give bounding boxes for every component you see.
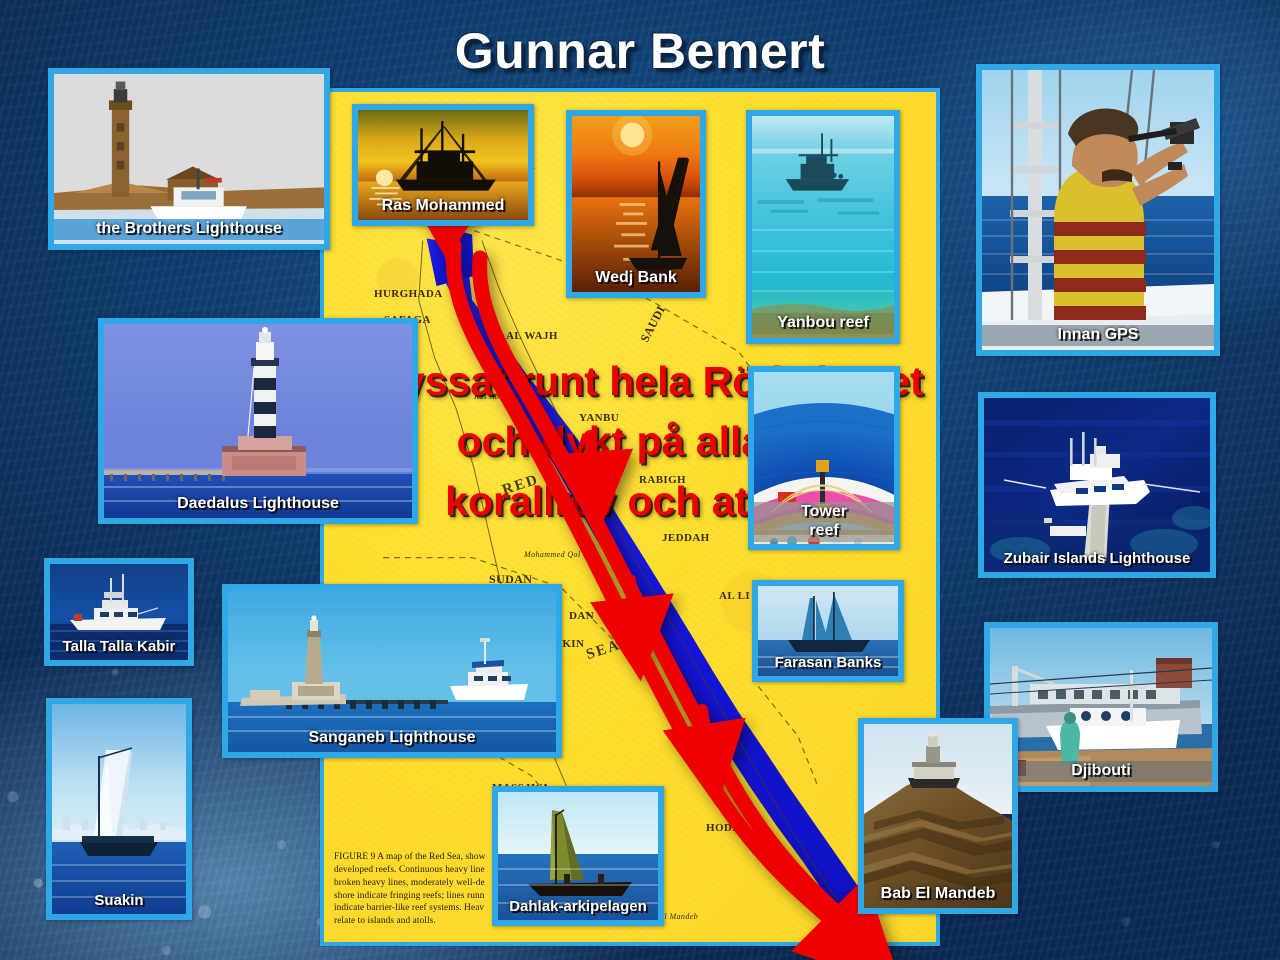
photo-card-yanbou-reef[interactable]: Yanbou reef (746, 110, 900, 344)
photo-image-suakin (52, 704, 186, 914)
photo-card-zubair-islands-lighthouse[interactable]: Zubair Islands Lighthouse (978, 392, 1216, 578)
photo-card-dahlak-arkipelagen[interactable]: Dahlak-arkipelagen (492, 786, 664, 926)
photo-image-yanbou-reef (752, 116, 894, 338)
map-label: RED (500, 472, 541, 500)
photo-image-zubair-islands-lighthouse (984, 398, 1210, 572)
map-label: Mohammed Qol (524, 550, 581, 559)
photo-image-sanganeb-lighthouse (228, 590, 556, 752)
photo-card-tower-reef[interactable]: Towerreef (748, 366, 900, 550)
map-label: SAUDI (637, 303, 669, 345)
map-label: YANBU (579, 412, 619, 424)
map-label: HODE (706, 822, 740, 834)
photo-card-suakin[interactable]: Suakin (46, 698, 192, 920)
map-label: DAN (569, 610, 594, 622)
photo-image-ras-mohammed (358, 110, 528, 220)
map-label: SEA (584, 637, 623, 664)
photo-image-bab-el-mandeb (864, 724, 1012, 908)
map-label: RABIGH (639, 474, 686, 486)
photo-card-farasan-banks[interactable]: Farasan Banks (752, 580, 904, 682)
photo-image-tower-reef (754, 372, 894, 544)
page-title: Gunnar Bemert (0, 22, 1280, 80)
photo-image-djibouti (990, 628, 1212, 786)
map-label: Ras Abu Madd (474, 392, 526, 401)
photo-card-bab-el-mandeb[interactable]: Bab El Mandeb (858, 718, 1018, 914)
map-label: HURGHADA (374, 288, 443, 300)
photo-card-talla-talla-kabir[interactable]: Talla Talla Kabir (44, 558, 194, 666)
slide-canvas: JORBAHURGHADASAFAGAQOSEIRAL WAJHSAUDIRas… (0, 0, 1280, 960)
photo-image-dahlak-arkipelagen (498, 792, 658, 920)
photo-image-talla-talla-kabir (50, 564, 188, 660)
photo-card-sanganeb-lighthouse[interactable]: Sanganeb Lighthouse (222, 584, 562, 758)
map-label: JIZAN (699, 722, 734, 734)
map-label: AL LI (719, 590, 750, 602)
map-label: AL WAJH (506, 330, 558, 342)
photo-image-brothers-lighthouse (54, 74, 324, 244)
photo-card-wedj-bank[interactable]: Wedj Bank (566, 110, 706, 298)
map-label: JEDDAH (662, 532, 710, 544)
photo-card-djibouti[interactable]: Djibouti (984, 622, 1218, 792)
photo-card-daedalus-lighthouse[interactable]: Daedalus Lighthouse (98, 318, 418, 524)
photo-image-daedalus-lighthouse (104, 324, 412, 518)
photo-card-ras-mohammed[interactable]: Ras Mohammed (352, 104, 534, 226)
photo-image-farasan-banks (758, 586, 898, 676)
photo-image-wedj-bank (572, 116, 700, 292)
map-label: Y (732, 788, 740, 800)
photo-card-innan-gps[interactable]: Innan GPS (976, 64, 1220, 356)
photo-image-innan-gps (982, 70, 1214, 350)
photo-card-brothers-lighthouse[interactable]: the Brothers Lighthouse (48, 68, 330, 250)
